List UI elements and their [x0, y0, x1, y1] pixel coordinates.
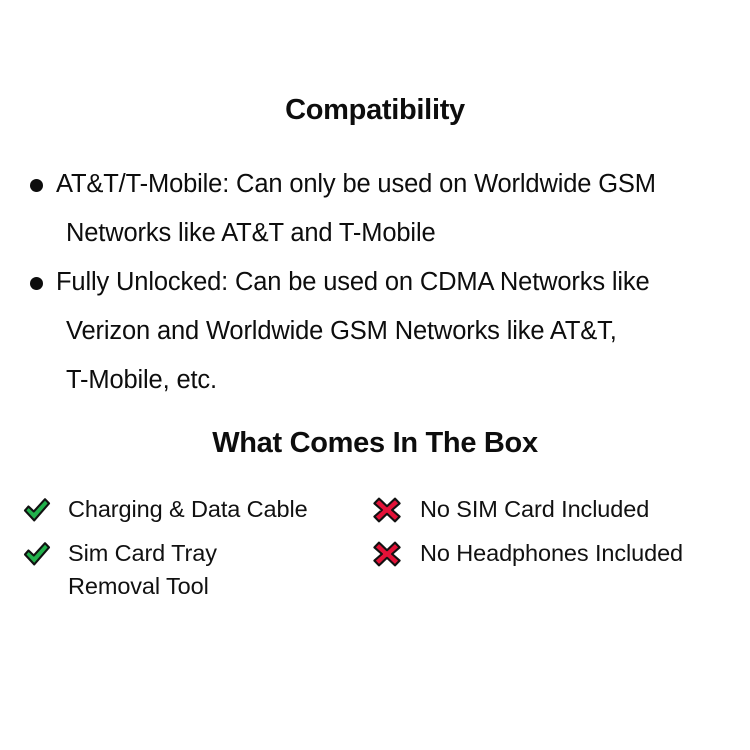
list-item: Charging & Data Cable [22, 493, 372, 535]
compatibility-item-line: Verizon and Worldwide GSM Networks like … [0, 307, 750, 356]
compatibility-item-text: Fully Unlocked: Can be used on CDMA Netw… [56, 258, 650, 307]
list-item: No SIM Card Included [372, 493, 742, 535]
compatibility-item-text: AT&T/T-Mobile: Can only be used on World… [56, 160, 656, 209]
included-item-label: Charging & Data Cable [68, 493, 372, 526]
compatibility-item-line: AT&T/T-Mobile: Can only be used on World… [0, 160, 750, 209]
compatibility-item-line: Fully Unlocked: Can be used on CDMA Netw… [0, 258, 750, 307]
excluded-item-label: No Headphones Included [420, 537, 742, 570]
compatibility-heading: Compatibility [0, 96, 750, 125]
box-contents-list: Charging & Data Cable Sim Card Tray Remo… [0, 493, 750, 623]
cross-icon [372, 540, 402, 568]
cross-icon [372, 496, 402, 524]
excluded-item-label: No SIM Card Included [420, 493, 742, 526]
list-item: No Headphones Included [372, 537, 742, 579]
excluded-items-column: No SIM Card Included No Headphones Inclu… [372, 493, 742, 581]
compatibility-list: AT&T/T-Mobile: Can only be used on World… [0, 160, 750, 405]
compatibility-item-line: T-Mobile, etc. [0, 356, 750, 405]
list-item: Fully Unlocked: Can be used on CDMA Netw… [0, 258, 750, 405]
list-item: Sim Card Tray Removal Tool [22, 537, 372, 603]
bullet-dot-icon [30, 179, 43, 192]
compatibility-item-text: Verizon and Worldwide GSM Networks like … [66, 307, 617, 356]
included-items-column: Charging & Data Cable Sim Card Tray Remo… [22, 493, 372, 605]
check-icon [22, 540, 52, 568]
box-contents-heading: What Comes In The Box [0, 429, 750, 458]
included-item-label: Sim Card Tray Removal Tool [68, 537, 372, 603]
product-info-graphic: Compatibility AT&T/T-Mobile: Can only be… [0, 0, 750, 750]
compatibility-item-text: T-Mobile, etc. [66, 356, 217, 405]
check-icon [22, 496, 52, 524]
compatibility-item-text: Networks like AT&T and T-Mobile [66, 209, 436, 258]
list-item: AT&T/T-Mobile: Can only be used on World… [0, 160, 750, 258]
compatibility-item-line: Networks like AT&T and T-Mobile [0, 209, 750, 258]
bullet-dot-icon [30, 277, 43, 290]
